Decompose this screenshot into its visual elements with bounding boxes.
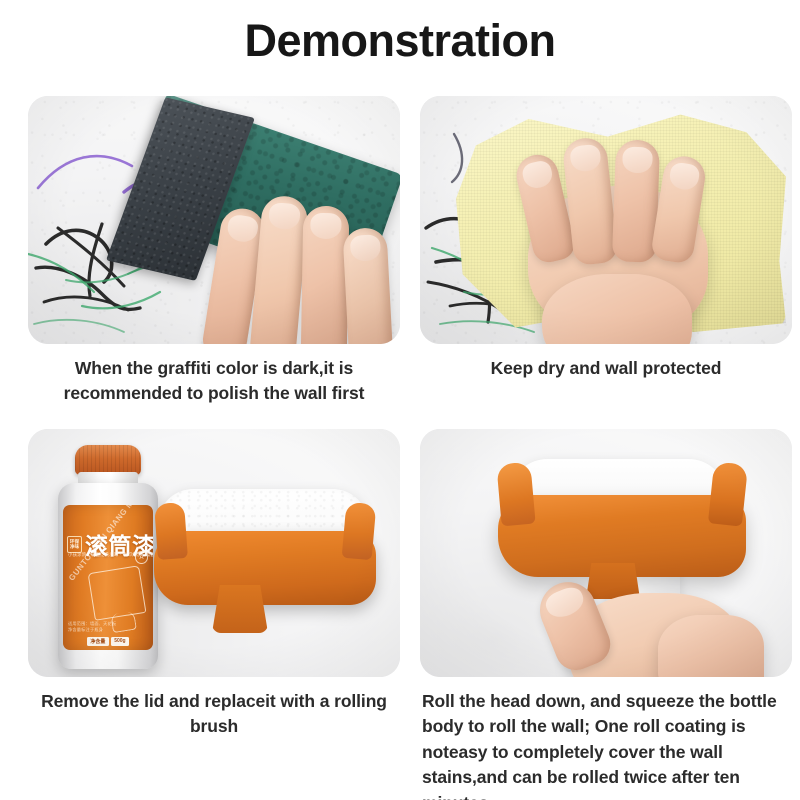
photo-vignette	[28, 429, 400, 677]
page-title: Demonstration	[0, 16, 800, 66]
step-1-caption: When the graffiti color is dark,it is re…	[28, 356, 400, 407]
photo-vignette	[420, 96, 792, 344]
photo-vignette	[420, 429, 792, 677]
steps-grid: QƎ⅂VOATƧБ S ƧIHT	[0, 96, 800, 796]
step-3-caption: Remove the lid and replaceit with a roll…	[28, 689, 400, 740]
step-card-1: QƎ⅂VOATƧБ S ƧIHT	[28, 96, 400, 407]
step-card-2: Keep dry and wall protected	[420, 96, 792, 381]
step-2-photo	[420, 96, 792, 344]
step-4-caption: Roll the head down, and squeeze the bott…	[420, 689, 792, 800]
step-card-4: Roll the head down, and squeeze the bott…	[420, 429, 792, 800]
step-1-photo: QƎ⅂VOATƧБ S ƧIHT	[28, 96, 400, 344]
step-3-photo: 环保 净味 滚筒漆 小孩涂鸦 · 墙面泛黄发霉 · 水印烟渍 · 墙面脱落等 G…	[28, 429, 400, 677]
photo-vignette	[28, 96, 400, 344]
step-2-caption: Keep dry and wall protected	[420, 356, 792, 381]
demonstration-page: Demonstration	[0, 0, 800, 800]
step-card-3: 环保 净味 滚筒漆 小孩涂鸦 · 墙面泛黄发霉 · 水印烟渍 · 墙面脱落等 G…	[28, 429, 400, 740]
step-4-photo	[420, 429, 792, 677]
